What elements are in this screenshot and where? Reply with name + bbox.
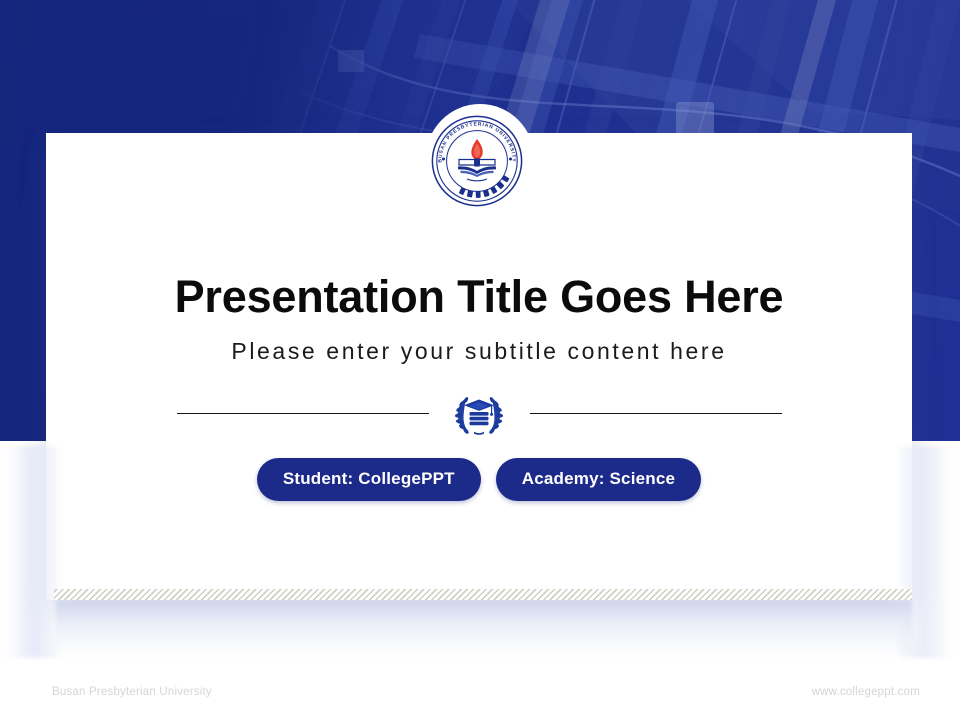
divider	[46, 391, 912, 435]
status-badge-student[interactable]: Student: CollegePPT	[257, 458, 481, 501]
divider-line-right	[530, 413, 782, 414]
busan-presbyterian-university-seal-icon: BUSAN PRESBYTERIAN UNIVERSITY	[429, 113, 525, 209]
divider-line-left	[177, 413, 429, 414]
footer-website-url: www.collegeppt.com	[812, 686, 920, 698]
badge-group: Student: CollegePPT Academy: Science	[46, 458, 912, 501]
page-title: Presentation Title Goes Here	[46, 273, 912, 320]
slide-subtitle: Please enter your subtitle content here	[46, 338, 912, 365]
presentation-slide: BUSAN PRESBYTERIAN UNIVERSITY	[0, 0, 960, 720]
status-badge-academy[interactable]: Academy: Science	[496, 458, 701, 501]
laurel-wreath-graduation-cap-icon	[450, 391, 508, 435]
card-reflection-bottom	[56, 600, 912, 656]
footer-university-name: Busan Presbyterian University	[52, 686, 212, 698]
